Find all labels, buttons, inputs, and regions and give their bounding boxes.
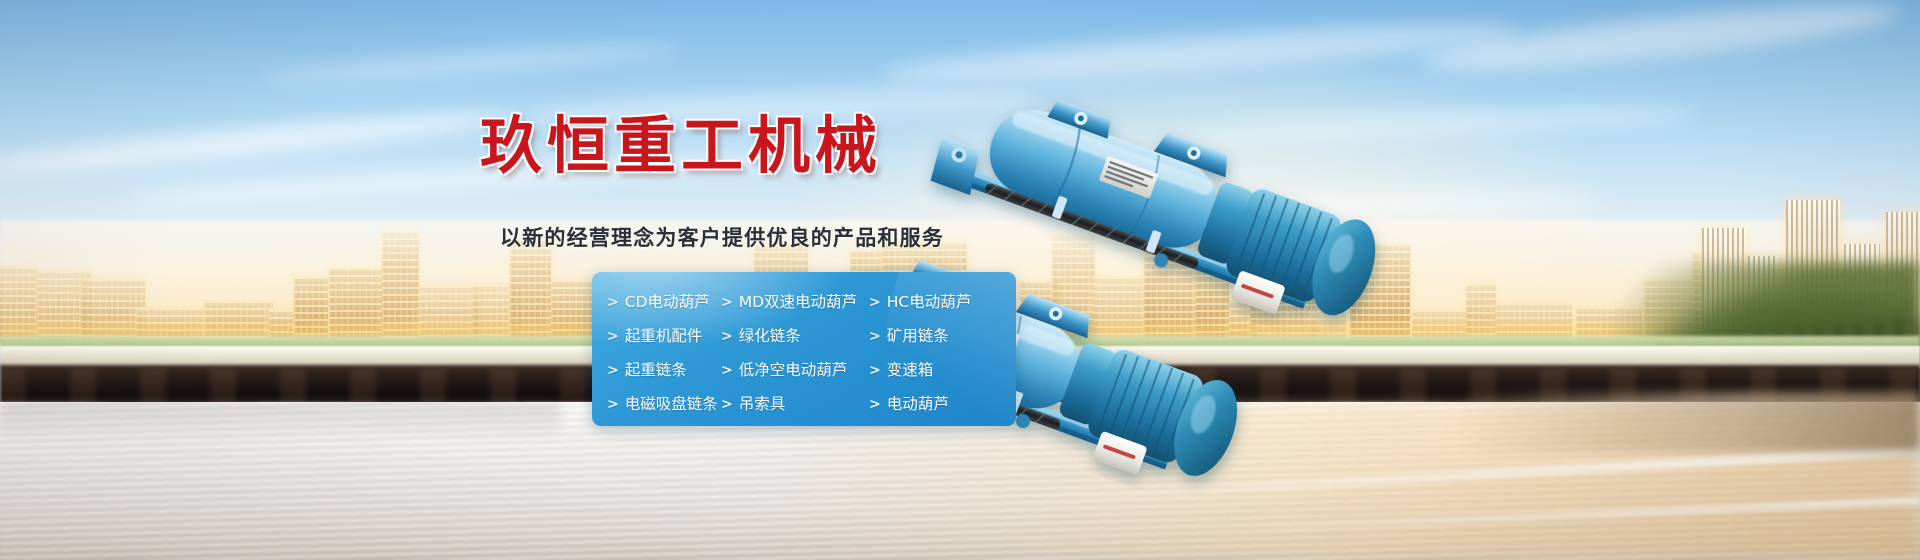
- chevron-right-icon: >: [869, 296, 881, 310]
- product-link-label: 电动葫芦: [887, 397, 949, 413]
- road-shadow-left: [0, 402, 560, 442]
- product-link[interactable]: >HC电动葫芦: [869, 295, 1016, 311]
- chevron-right-icon: >: [869, 398, 881, 412]
- product-link[interactable]: >低净空电动葫芦: [721, 363, 869, 379]
- product-links-grid: >CD电动葫芦>MD双速电动葫芦>HC电动葫芦>起重机配件>绿化链条>矿用链条>…: [592, 286, 1016, 422]
- product-link[interactable]: >CD电动葫芦: [607, 295, 721, 311]
- product-link-label: CD电动葫芦: [625, 295, 710, 311]
- chevron-right-icon: >: [607, 296, 619, 310]
- product-link-label: 矿用链条: [887, 329, 949, 345]
- chevron-right-icon: >: [721, 330, 733, 344]
- cloud-wisp: [260, 39, 680, 86]
- product-link[interactable]: >起重机配件: [607, 329, 721, 345]
- chevron-right-icon: >: [721, 364, 733, 378]
- chevron-right-icon: >: [869, 364, 881, 378]
- product-links-panel: >CD电动葫芦>MD双速电动葫芦>HC电动葫芦>起重机配件>绿化链条>矿用链条>…: [592, 272, 1016, 426]
- product-link-label: 变速箱: [887, 363, 934, 379]
- banner-subheadline: 以新的经营理念为客户提供优良的产品和服务: [500, 222, 1120, 252]
- product-link-label: 电磁吸盘链条: [625, 397, 718, 413]
- hero-banner: 玖恒重工机械 以新的经营理念为客户提供优良的产品和服务 >CD电动葫芦>MD双速…: [0, 0, 1920, 560]
- chevron-right-icon: >: [607, 398, 619, 412]
- product-link-label: 起重机配件: [625, 329, 703, 345]
- product-link-label: HC电动葫芦: [887, 295, 971, 311]
- product-link[interactable]: >矿用链条: [869, 329, 1016, 345]
- product-link[interactable]: >吊索具: [721, 397, 869, 413]
- product-link[interactable]: >电动葫芦: [869, 397, 1016, 413]
- product-link-label: 吊索具: [739, 397, 786, 413]
- product-link[interactable]: >MD双速电动葫芦: [721, 295, 869, 311]
- product-link[interactable]: >变速箱: [869, 363, 1016, 379]
- product-link[interactable]: >电磁吸盘链条: [607, 397, 721, 413]
- product-link[interactable]: >起重链条: [607, 363, 721, 379]
- chevron-right-icon: >: [607, 364, 619, 378]
- product-link-label: MD双速电动葫芦: [739, 295, 857, 311]
- chevron-right-icon: >: [607, 330, 619, 344]
- product-link-label: 绿化链条: [739, 329, 801, 345]
- chevron-right-icon: >: [721, 296, 733, 310]
- chevron-right-icon: >: [721, 398, 733, 412]
- chevron-right-icon: >: [869, 330, 881, 344]
- banner-headline: 玖恒重工机械: [480, 112, 1040, 180]
- product-link-label: 低净空电动葫芦: [739, 363, 848, 379]
- product-link-label: 起重链条: [625, 363, 687, 379]
- product-link[interactable]: >绿化链条: [721, 329, 869, 345]
